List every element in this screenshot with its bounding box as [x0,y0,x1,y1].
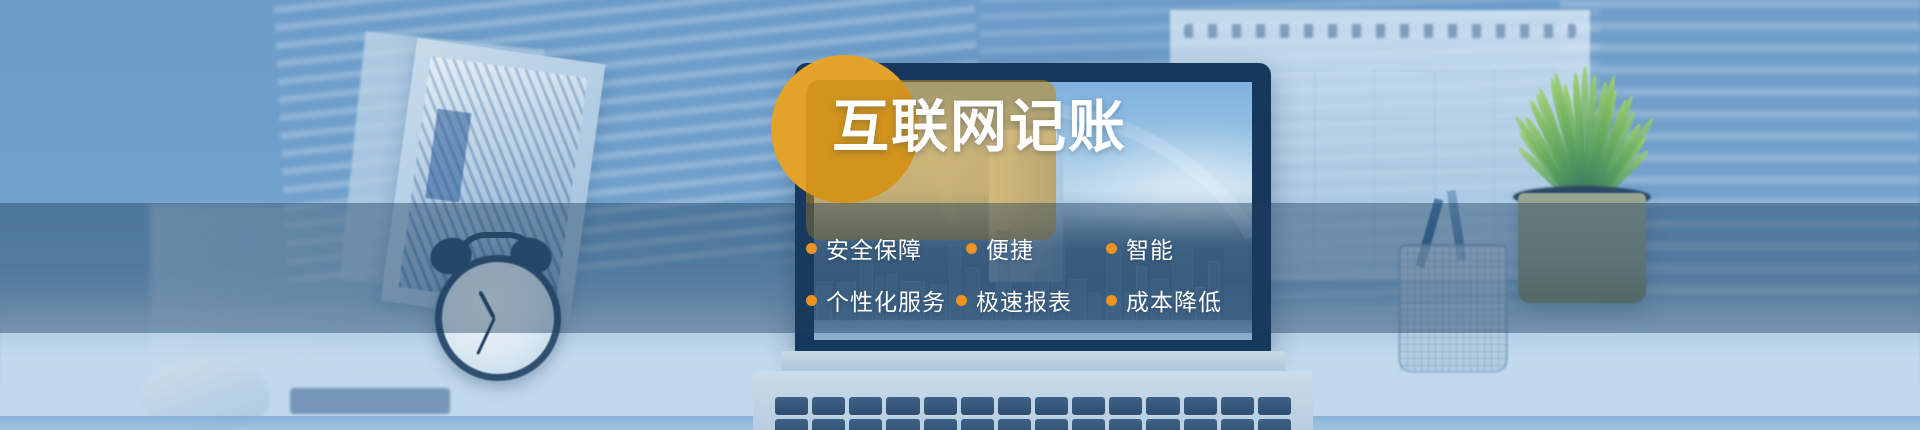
feature-label: 智能 [1126,231,1174,265]
feature-item-security[interactable]: 安全保障 [806,231,966,265]
feature-row-1: 安全保障 便捷 智能 [806,222,1266,274]
feature-item-personalized-service[interactable]: 个性化服务 [806,283,956,317]
bullet-dot-icon [806,243,817,254]
feature-item-intelligent[interactable]: 智能 [1106,231,1174,265]
bullet-dot-icon [966,243,977,254]
feature-list: 安全保障 便捷 智能 个性化服务 极速报表 [806,222,1266,326]
feature-label: 安全保障 [826,231,922,265]
feature-item-cost-reduction[interactable]: 成本降低 [1106,283,1222,317]
bullet-dot-icon [1106,243,1117,254]
feature-label: 极速报表 [976,283,1072,317]
feature-label: 便捷 [986,231,1034,265]
feature-label: 成本降低 [1126,283,1222,317]
feature-item-fast-reports[interactable]: 极速报表 [956,283,1106,317]
feature-row-2: 个性化服务 极速报表 成本降低 [806,274,1266,326]
banner-title: 互联网记账 [832,92,1127,162]
promo-banner: 互联网记账 安全保障 便捷 智能 个性化服务 [0,0,1920,430]
bullet-dot-icon [956,295,967,306]
bullet-dot-icon [1106,295,1117,306]
feature-label: 个性化服务 [826,283,946,317]
feature-item-convenient[interactable]: 便捷 [966,231,1106,265]
bullet-dot-icon [806,295,817,306]
banner-content: 互联网记账 安全保障 便捷 智能 个性化服务 [0,0,1920,430]
